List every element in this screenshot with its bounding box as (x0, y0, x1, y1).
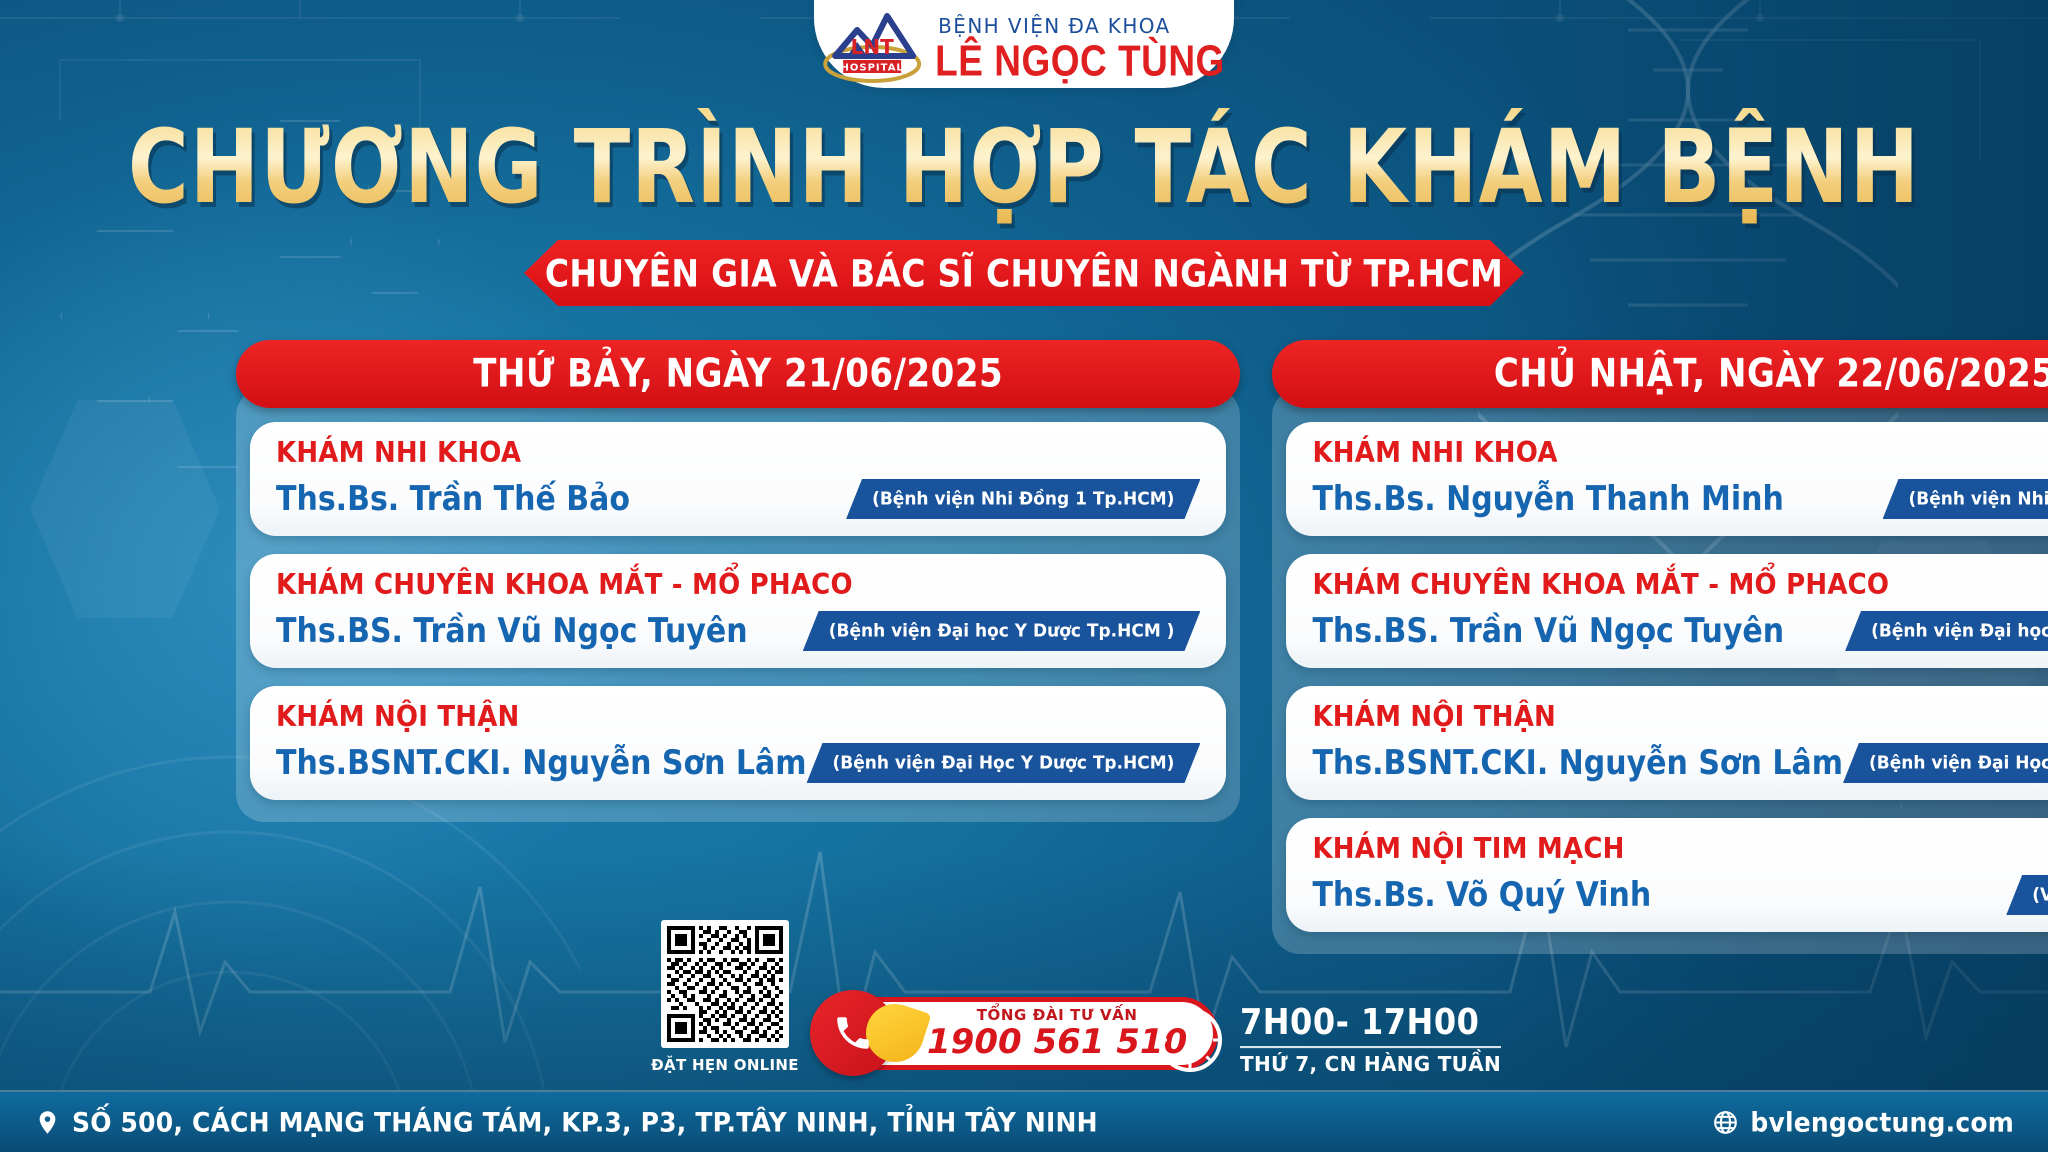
entry-doctor: Ths.BS. Trần Vũ Ngọc Tuyên (1312, 611, 1784, 650)
poster-title: CHƯƠNG TRÌNH HỢP TÁC KHÁM BỆNH (0, 108, 2048, 226)
date-label: CHỦ NHẬT, NGÀY 22/06/2025 (1494, 351, 2048, 397)
hours-range: 7H00- 17H00 (1240, 1000, 1501, 1047)
qr-code-icon[interactable] (661, 920, 789, 1048)
footer-bar: SỐ 500, CÁCH MẠNG THÁNG TÁM, KP.3, P3, T… (0, 1090, 2048, 1152)
entry-doctor: Ths.BSNT.CKI. Nguyễn Sơn Lâm (1312, 743, 1843, 782)
hours-days: THỨ 7, CN HÀNG TUẦN (1240, 1052, 1501, 1076)
entry-hospital-tag: (Viện Tim Tp.HCM) (2006, 875, 2048, 915)
operating-hours-block: 7H00- 17H00 THỨ 7, CN HÀNG TUẦN (1150, 1002, 1501, 1076)
schedule-column-saturday: THỨ BẢY, NGÀY 21/06/2025 KHÁM NHI KHOA T… (236, 340, 1240, 954)
entry-specialty: KHÁM NỘI TIM MẠCH (1312, 833, 2048, 866)
entry-doctor: Ths.Bs. Võ Quý Vinh (1312, 875, 1651, 914)
entry-specialty: KHÁM NHI KHOA (1312, 437, 2048, 470)
globe-icon (1712, 1109, 1739, 1136)
schedule-entry[interactable]: KHÁM NHI KHOA Ths.Bs. Trần Thế Bảo (Bệnh… (250, 422, 1226, 536)
svg-text:LNT: LNT (851, 35, 894, 59)
entry-doctor: Ths.BSNT.CKI. Nguyễn Sơn Lâm (276, 743, 807, 782)
schedule-entry[interactable]: KHÁM NỘI TIM MẠCH Ths.Bs. Võ Quý Vinh (V… (1286, 818, 2048, 932)
entry-specialty: KHÁM CHUYÊN KHOA MẮT - MỔ PHACO (1312, 569, 2048, 602)
footer-website[interactable]: bvlengoctung.com (1750, 1107, 2014, 1138)
online-booking-block[interactable]: ĐẶT HẸN ONLINE (650, 920, 800, 1074)
hospital-logo: LNT HOSPITAL BỆNH VIỆN ĐA KHOA LÊ NGỌC T… (823, 8, 1225, 84)
svg-text:HOSPITAL: HOSPITAL (841, 63, 904, 74)
entry-specialty: KHÁM NỘI THẬN (276, 701, 1200, 734)
hotline-number[interactable]: 1900 561 510 (927, 1025, 1187, 1059)
schedule-entry[interactable]: KHÁM CHUYÊN KHOA MẮT - MỔ PHACO Ths.BS. … (1286, 554, 2048, 668)
date-header-saturday: THỨ BẢY, NGÀY 21/06/2025 (236, 340, 1240, 408)
logo-line-1: BỆNH VIỆN ĐA KHOA (935, 16, 1225, 36)
qr-code-label: ĐẶT HẸN ONLINE (650, 1056, 800, 1074)
entry-hospital-tag: (Bệnh viện Nhi Đồng 1 Tp.HCM) (846, 479, 1200, 519)
schedule-entry[interactable]: KHÁM NHI KHOA Ths.Bs. Nguyễn Thanh Minh … (1286, 422, 2048, 536)
footer-address: SỐ 500, CÁCH MẠNG THÁNG TÁM, KP.3, P3, T… (72, 1107, 1098, 1138)
entry-hospital-tag: (Bệnh viện Nhi Đồng 1 Tp.HCM) (1883, 479, 2048, 519)
hotline-caption: TỔNG ĐÀI TƯ VẤN (927, 1006, 1187, 1024)
entry-specialty: KHÁM NHI KHOA (276, 437, 1200, 470)
date-header-sunday: CHỦ NHẬT, NGÀY 22/06/2025 (1272, 340, 2048, 408)
entry-specialty: KHÁM NỘI THẬN (1312, 701, 2048, 734)
schedule-columns: THỨ BẢY, NGÀY 21/06/2025 KHÁM NHI KHOA T… (236, 340, 1848, 954)
date-label: THỨ BẢY, NGÀY 21/06/2025 (473, 351, 1003, 397)
subtitle-text: CHUYÊN GIA VÀ BÁC SĨ CHUYÊN NGÀNH TỪ TP.… (545, 251, 1503, 295)
entry-specialty: KHÁM CHUYÊN KHOA MẮT - MỔ PHACO (276, 569, 1200, 602)
schedule-column-sunday: CHỦ NHẬT, NGÀY 22/06/2025 KHÁM NHI KHOA … (1272, 340, 2048, 954)
entry-doctor: Ths.Bs. Nguyễn Thanh Minh (1312, 479, 1783, 518)
location-pin-icon (34, 1109, 61, 1136)
entry-hospital-tag: (Bệnh viện Đại học Y Dược Tp.HCM) (1845, 611, 2048, 651)
schedule-entry[interactable]: KHÁM CHUYÊN KHOA MẮT - MỔ PHACO Ths.BS. … (250, 554, 1226, 668)
entry-list-sunday: KHÁM NHI KHOA Ths.Bs. Nguyễn Thanh Minh … (1272, 388, 2048, 954)
schedule-entry[interactable]: KHÁM NỘI THẬN Ths.BSNT.CKI. Nguyễn Sơn L… (1286, 686, 2048, 800)
phone-icon (810, 990, 896, 1076)
schedule-entry[interactable]: KHÁM NỘI THẬN Ths.BSNT.CKI. Nguyễn Sơn L… (250, 686, 1226, 800)
logo-line-2: LÊ NGỌC TÙNG (935, 39, 1225, 83)
clock-icon (1150, 1002, 1224, 1076)
entry-hospital-tag: (Bệnh viện Đại Học Y Dược Tp.HCM) (807, 743, 1201, 783)
subtitle-ribbon: CHUYÊN GIA VÀ BÁC SĨ CHUYÊN NGÀNH TỪ TP.… (524, 240, 1524, 306)
entry-hospital-tag: (Bệnh viện Đại học Y Dược Tp.HCM ) (803, 611, 1201, 651)
logo-mark-icon: LNT HOSPITAL (823, 8, 921, 84)
entry-list-saturday: KHÁM NHI KHOA Ths.Bs. Trần Thế Bảo (Bệnh… (236, 388, 1240, 822)
entry-hospital-tag: (Bệnh viện Đại Học Y Dược Tp.HCM) (1843, 743, 2048, 783)
entry-doctor: Ths.Bs. Trần Thế Bảo (276, 479, 630, 518)
entry-doctor: Ths.BS. Trần Vũ Ngọc Tuyên (276, 611, 748, 650)
